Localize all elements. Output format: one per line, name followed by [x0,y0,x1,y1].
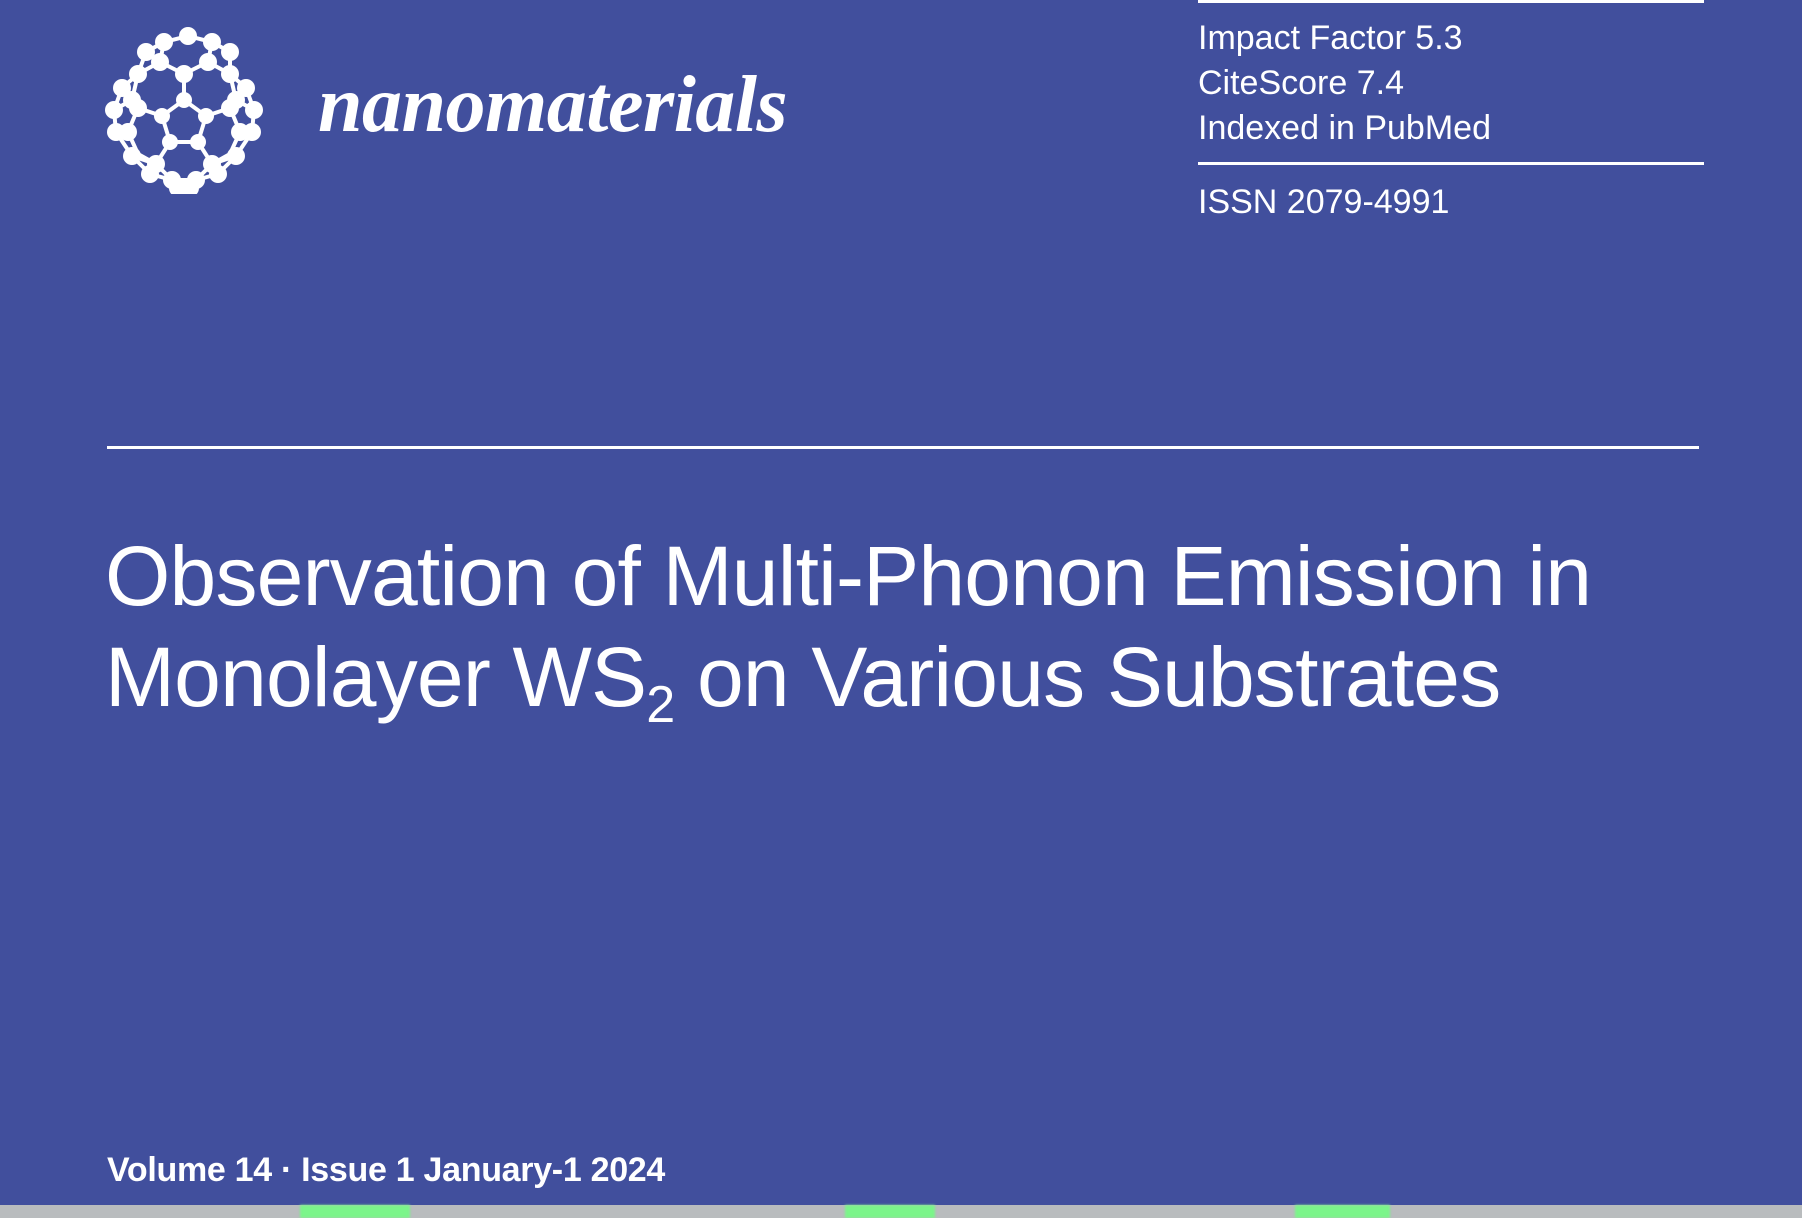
journal-cover: nanomaterials Impact Factor 5.3 CiteScor… [0,0,1802,1218]
metric-indexed-in: Indexed in PubMed [1198,106,1704,151]
article-title-subscript: 2 [646,676,674,734]
bottom-image-strip [0,1205,1802,1218]
article-title: Observation of Multi-Phonon Emission in … [105,526,1725,728]
journal-issn: ISSN 2079-4991 [1198,165,1704,225]
metrics-list: Impact Factor 5.3 CiteScore 7.4 Indexed … [1198,3,1704,162]
volume-issue-line: Volume 14 · Issue 1 January-1 2024 [107,1150,665,1190]
strip-accent-2 [845,1205,935,1218]
article-title-part-2: on Various Substrates [674,630,1500,724]
metric-citescore: CiteScore 7.4 [1198,61,1704,106]
metric-impact-factor: Impact Factor 5.3 [1198,16,1704,61]
journal-wordmark: nanomaterials [318,62,787,148]
strip-accent-3 [1295,1205,1390,1218]
title-divider [107,446,1699,449]
masthead: nanomaterials Impact Factor 5.3 CiteScor… [0,0,1802,300]
journal-metrics-block: Impact Factor 5.3 CiteScore 7.4 Indexed … [1198,0,1704,225]
strip-accent-1 [300,1205,410,1218]
fullerene-buckyball-icon [98,22,270,194]
